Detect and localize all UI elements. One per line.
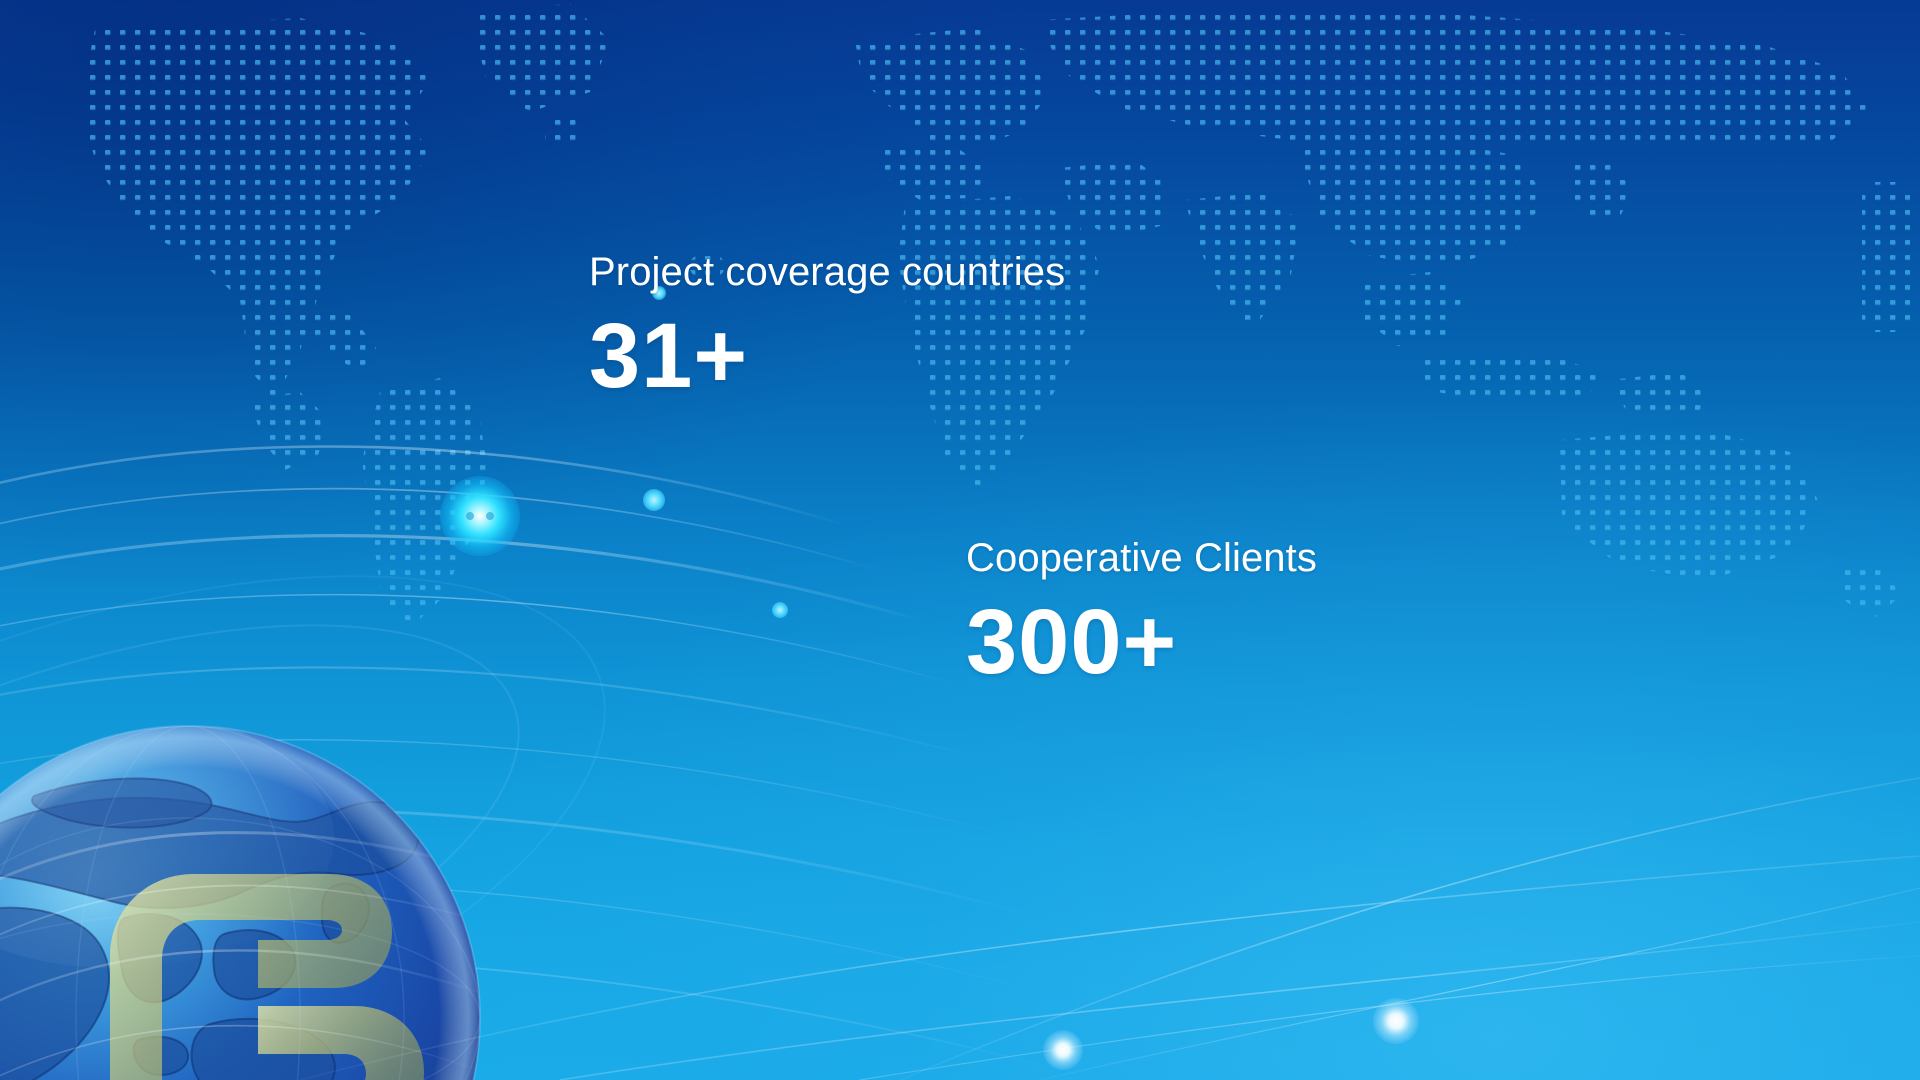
banner-stage: Project coverage countries 31+ Cooperati… bbox=[0, 0, 1920, 1080]
stat-value: 300+ bbox=[966, 596, 1317, 688]
network-arc-lines bbox=[0, 660, 1920, 1080]
stat-label: Cooperative Clients bbox=[966, 538, 1317, 578]
stat-label: Project coverage countries bbox=[589, 252, 1065, 292]
stat-value: 31+ bbox=[589, 310, 1065, 402]
stat-cooperative-clients: Cooperative Clients 300+ bbox=[966, 538, 1317, 688]
stat-project-coverage-countries: Project coverage countries 31+ bbox=[589, 252, 1065, 402]
